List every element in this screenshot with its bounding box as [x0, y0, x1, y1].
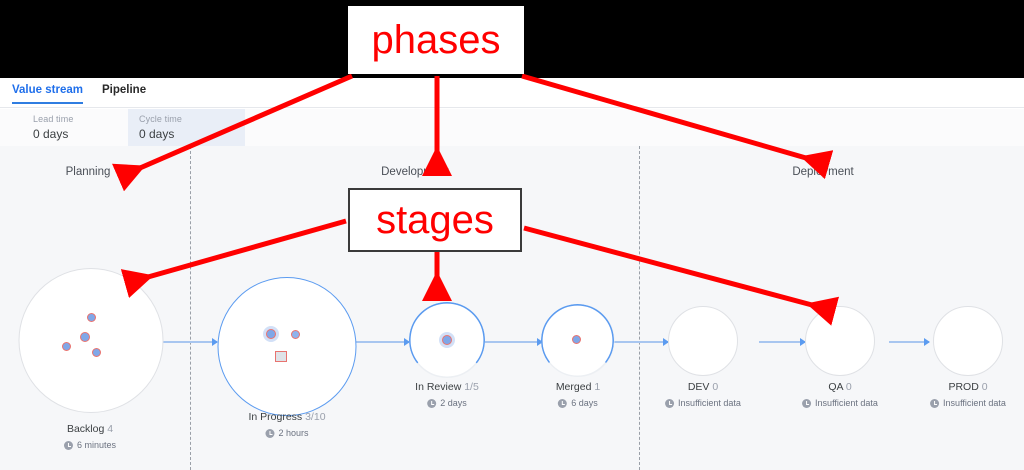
metrics-strip: Lead time 0 days Cycle time 0 days + — [0, 109, 1024, 146]
metric-card-lead-time[interactable]: Lead time 0 days — [0, 109, 128, 146]
stage-sub-dev: Insufficient data — [665, 397, 741, 410]
work-item-dot — [442, 335, 452, 345]
metric-card-cycle-time[interactable]: Cycle time 0 days — [128, 109, 245, 146]
stage-title-merged: Merged 1 — [556, 380, 600, 394]
stage-sub-backlog: 6 minutes — [64, 439, 116, 452]
screenshot-root: Value stream Pipeline Lead time 0 days C… — [0, 0, 1024, 470]
clock-icon — [930, 399, 939, 408]
connector-merged-to-dev — [613, 341, 668, 343]
stage-node-dev[interactable] — [668, 306, 738, 376]
phase-label-development: Development — [381, 166, 449, 178]
stage-count-backlog: 4 — [107, 423, 113, 435]
work-item-dot — [92, 348, 101, 357]
clock-icon — [427, 399, 436, 408]
connector-qa-to-prod — [889, 341, 929, 343]
stage-bubble-qa — [805, 306, 875, 376]
stage-bubble-backlog — [18, 268, 163, 413]
stage-node-qa[interactable] — [805, 306, 875, 376]
annotation-label-stages: stages — [348, 188, 522, 252]
stage-bubble-in-progress — [217, 277, 356, 416]
stage-title-prod: PROD 0 — [930, 380, 1006, 394]
stage-sub-in-review: 2 days — [415, 397, 479, 410]
work-item-dot — [266, 329, 276, 339]
phase-label-planning: Planning — [66, 166, 111, 178]
connector-dev-to-qa — [759, 341, 805, 343]
stage-title-in-review: In Review 1/5 — [415, 380, 479, 394]
stage-caption-in-progress: In Progress 3/10 2 hours — [248, 410, 325, 440]
clock-icon — [558, 399, 567, 408]
clock-icon — [802, 399, 811, 408]
annotation-label-phases: phases — [348, 6, 524, 74]
metric-label-cycle-time: Cycle time — [139, 113, 245, 125]
work-item-dot — [80, 332, 90, 342]
connector-in-review-to-merged — [484, 341, 542, 343]
metric-value-cycle-time: 0 days — [139, 126, 245, 142]
stage-sub-qa: Insufficient data — [802, 397, 878, 410]
stage-caption-qa: QA 0 Insufficient data — [802, 380, 878, 410]
work-item-square — [275, 351, 287, 362]
stage-title-backlog: Backlog 4 — [64, 422, 116, 436]
stage-bubble-prod — [933, 306, 1003, 376]
stage-sub-merged: 6 days — [556, 397, 600, 410]
clock-icon — [665, 399, 674, 408]
clock-icon — [64, 441, 73, 450]
stage-count-merged: 1 — [594, 381, 600, 393]
stage-count-qa: 0 — [846, 381, 852, 393]
stage-sub-prod: Insufficient data — [930, 397, 1006, 410]
work-item-dot — [572, 335, 581, 344]
stage-node-in-progress[interactable] — [217, 277, 356, 416]
stage-node-backlog[interactable] — [18, 268, 163, 413]
connector-backlog-to-in-progress — [163, 341, 217, 343]
phase-divider-development-deployment — [639, 146, 640, 470]
stage-sub-in-progress: 2 hours — [248, 427, 325, 440]
phase-label-deployment: Deployment — [792, 166, 853, 178]
stage-bubble-dev — [668, 306, 738, 376]
work-item-dot — [291, 330, 300, 339]
stage-count-in-review: 1/5 — [464, 381, 479, 393]
stage-node-merged[interactable] — [541, 304, 614, 377]
work-item-dot — [87, 313, 96, 322]
metric-value-lead-time: 0 days — [33, 126, 128, 142]
tab-value-stream[interactable]: Value stream — [12, 83, 83, 104]
stage-count-dev: 0 — [712, 381, 718, 393]
metric-label-lead-time: Lead time — [33, 113, 128, 125]
stage-node-prod[interactable] — [933, 306, 1003, 376]
work-item-dot — [62, 342, 71, 351]
stage-title-dev: DEV 0 — [665, 380, 741, 394]
stage-node-in-review[interactable] — [409, 302, 485, 378]
stage-caption-dev: DEV 0 Insufficient data — [665, 380, 741, 410]
tab-bar: Value stream Pipeline — [0, 78, 1024, 108]
phase-divider-planning-development — [190, 146, 191, 470]
stage-caption-merged: Merged 1 6 days — [556, 380, 600, 410]
stage-title-in-progress: In Progress 3/10 — [248, 410, 325, 424]
stage-caption-in-review: In Review 1/5 2 days — [415, 380, 479, 410]
stage-count-in-progress: 3/10 — [305, 411, 325, 423]
clock-icon — [265, 429, 274, 438]
tab-pipeline[interactable]: Pipeline — [102, 83, 146, 104]
stage-count-prod: 0 — [982, 381, 988, 393]
connector-in-progress-to-in-review — [356, 341, 409, 343]
stage-title-qa: QA 0 — [802, 380, 878, 394]
stage-caption-backlog: Backlog 4 6 minutes — [64, 422, 116, 452]
stage-caption-prod: PROD 0 Insufficient data — [930, 380, 1006, 410]
